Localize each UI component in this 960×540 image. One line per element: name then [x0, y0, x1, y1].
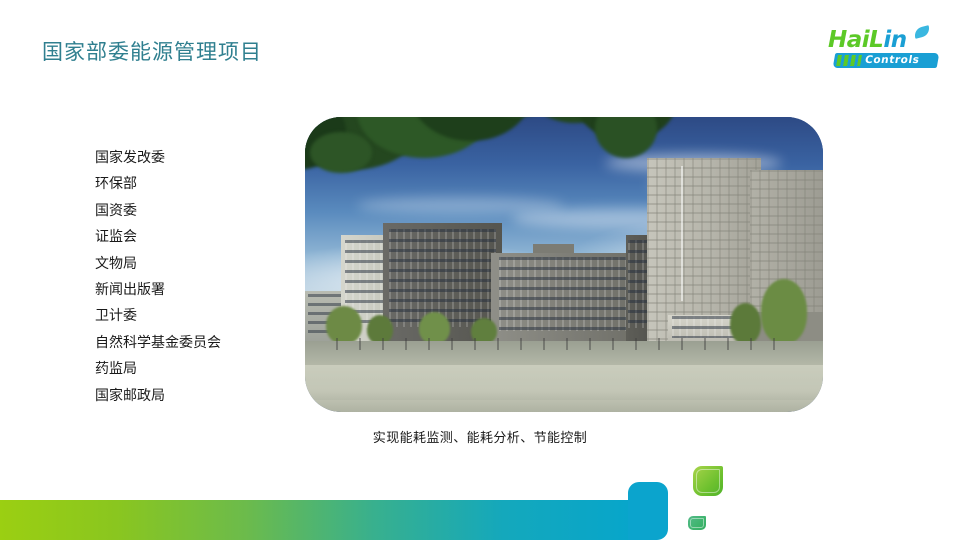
leaf-icon [913, 25, 931, 39]
logo-subtitle: Controls [864, 54, 921, 67]
list-item: 自然科学基金委员会 [95, 330, 295, 356]
building-shape [491, 253, 636, 342]
list-item: 国资委 [95, 198, 295, 224]
department-list: 国家发改委 环保部 国资委 证监会 文物局 新闻出版署 卫计委 自然科学基金委员… [95, 145, 295, 409]
stripes-icon [836, 55, 862, 66]
list-item: 新闻出版署 [95, 277, 295, 303]
hailin-controls-logo: HaiLin Controls [828, 28, 940, 72]
list-item: 国家发改委 [95, 145, 295, 171]
list-item: 环保部 [95, 171, 295, 197]
leaf-icon [688, 516, 706, 530]
leaf-icon [693, 466, 723, 496]
photo-caption: 实现能耗监测、能耗分析、节能控制 [0, 427, 960, 446]
list-item: 国家邮政局 [95, 383, 295, 409]
footer-gradient-bar [0, 500, 645, 540]
logo-word-blue: in [883, 27, 906, 53]
page-title: 国家部委能源管理项目 [42, 38, 262, 66]
pedestrians-shape [336, 338, 781, 350]
logo-word-green: HaiL [828, 27, 883, 53]
list-item: 文物局 [95, 251, 295, 277]
footer-decoration [0, 470, 960, 540]
footer-step-shape [628, 482, 668, 540]
photo-plaza [305, 365, 823, 400]
foliage-shape [310, 132, 372, 173]
logo-wordmark: HaiLin [828, 28, 907, 52]
list-item: 卫计委 [95, 303, 295, 329]
logo-subtitle-bar: Controls [833, 53, 940, 68]
list-item: 证监会 [95, 224, 295, 250]
slide-root: 国家部委能源管理项目 HaiLin Controls 国家发改委 环保部 国资委… [0, 0, 960, 540]
tree-shape [761, 279, 808, 344]
project-building-photo [305, 117, 823, 412]
list-item: 药监局 [95, 356, 295, 382]
